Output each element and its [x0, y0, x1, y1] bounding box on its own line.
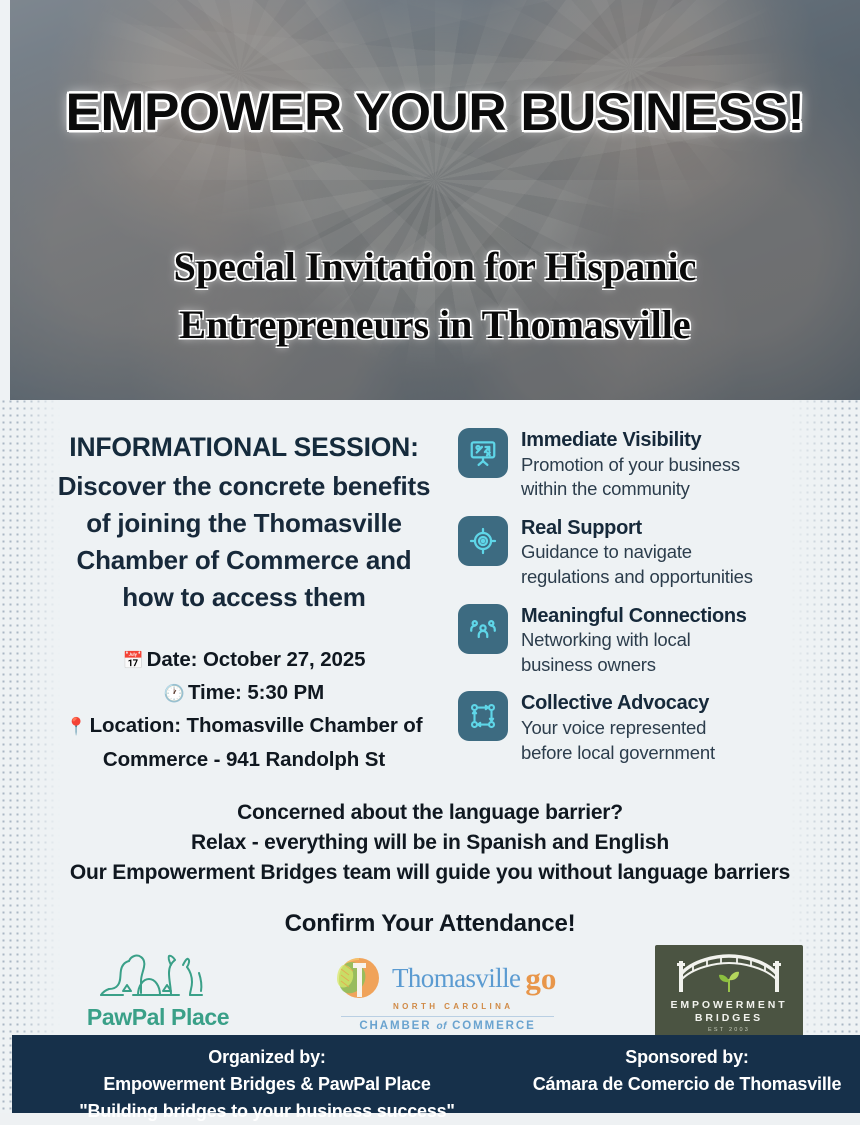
event-address-row: Commerce - 941 Randolph St: [34, 743, 454, 776]
benefit-text: Immediate Visibility Promotion of your b…: [521, 428, 740, 502]
footer-sponsored-line-1: Cámara de Comercio de Thomasville: [512, 1071, 860, 1098]
footer-bar: Organized by: Empowerment Bridges & PawP…: [12, 1035, 860, 1113]
benefit-desc-line-1: Guidance to navigate: [521, 540, 753, 565]
benefit-icon-tile: [458, 691, 508, 741]
thomasville-state: NORTH CAROLINA: [393, 1002, 560, 1011]
session-description-line-4: how to access them: [34, 579, 454, 616]
benefit-desc-line-1: Networking with local: [521, 628, 747, 653]
calendar-icon: 📅: [123, 651, 144, 670]
session-description-line-3: Chamber of Commerce and: [34, 542, 454, 579]
footer-organized-line-1: Empowerment Bridges & PawPal Place: [32, 1071, 502, 1098]
thomasville-divider: [341, 1016, 554, 1017]
language-callout: Concerned about the language barrier? Re…: [0, 798, 860, 889]
benefit-item: Immediate Visibility Promotion of your b…: [458, 428, 828, 502]
hero-subtitle-line-2: Entrepreneurs in Thomasville: [70, 296, 800, 354]
target-icon: [468, 526, 498, 556]
session-description-line-2: of joining the Thomasville: [34, 505, 454, 542]
thomasville-main-row: Thomasville go: [335, 955, 560, 1001]
event-time-row: 🕐Time: 5:30 PM: [34, 676, 454, 709]
session-heading: INFORMATIONAL SESSION:: [34, 430, 454, 464]
benefit-icon-tile: [458, 604, 508, 654]
benefit-item: Meaningful Connections Networking with l…: [458, 604, 828, 678]
event-date-text: Date: October 27, 2025: [147, 648, 366, 671]
benefit-title: Meaningful Connections: [521, 605, 747, 629]
session-description: Discover the concrete benefits of joinin…: [34, 468, 454, 616]
empowerment-bridges-est: EST 2003: [708, 1027, 750, 1033]
callout-line-2: Relax - everything will be in Spanish an…: [0, 828, 860, 858]
benefits-column: Immediate Visibility Promotion of your b…: [458, 428, 828, 779]
bridge-leaf-icon: [669, 952, 789, 998]
thomasville-chamber-logo: Thomasville go NORTH CAROLINA CHAMBER of…: [335, 955, 560, 1032]
benefit-text: Meaningful Connections Networking with l…: [521, 604, 747, 678]
callout-line-1: Concerned about the language barrier?: [0, 798, 860, 828]
benefit-item: Collective Advocacy Your voice represent…: [458, 691, 828, 765]
thomasville-wordmark: Thomasville: [392, 965, 520, 992]
event-location-text: Location: Thomasville Chamber of: [90, 714, 423, 737]
hero-subtitle-line-1: Special Invitation for Hispanic: [70, 238, 800, 296]
empowerment-bridges-logo: EMPOWERMENT BRIDGES EST 2003: [655, 945, 803, 1038]
benefit-icon-tile: [458, 516, 508, 566]
benefit-desc-line-2: within the community: [521, 477, 740, 502]
benefit-desc-line-2: before local government: [521, 741, 715, 766]
hero-banner: EMPOWER YOUR BUSINESS! Special Invitatio…: [10, 0, 860, 400]
map-pin-icon: 📍: [66, 717, 87, 736]
benefit-desc-line-2: regulations and opportunities: [521, 565, 753, 590]
logo-row: PawPal Place Thomasville: [0, 945, 860, 1037]
hero-subtitle: Special Invitation for Hispanic Entrepre…: [70, 238, 800, 354]
thomasville-go-word: go: [525, 963, 556, 994]
pawpal-place-name: PawPal Place: [58, 1004, 258, 1031]
benefit-desc-line-1: Promotion of your business: [521, 453, 740, 478]
benefit-title: Real Support: [521, 517, 753, 541]
empowerment-bridges-name-2: BRIDGES: [695, 1012, 763, 1024]
benefit-text: Collective Advocacy Your voice represent…: [521, 691, 715, 765]
benefit-desc-line-2: business owners: [521, 653, 747, 678]
session-description-line-1: Discover the concrete benefits: [34, 468, 454, 505]
callout-line-3: Our Empowerment Bridges team will guide …: [0, 858, 860, 888]
body-section: INFORMATIONAL SESSION: Discover the conc…: [0, 400, 860, 1035]
pawpal-place-logo: PawPal Place: [58, 947, 258, 1031]
event-details: 📅Date: October 27, 2025 🕐Time: 5:30 PM 📍…: [34, 643, 454, 776]
commerce-word: COMMERCE: [452, 1020, 536, 1032]
thomasville-globe-icon: [335, 955, 387, 1001]
empowerment-bridges-name-1: EMPOWERMENT: [670, 998, 787, 1012]
benefit-icon-tile: [458, 428, 508, 478]
benefit-text: Real Support Guidance to navigate regula…: [521, 516, 753, 590]
benefit-title: Immediate Visibility: [521, 429, 740, 453]
strategy-board-icon: [468, 438, 498, 468]
benefit-title: Collective Advocacy: [521, 692, 715, 716]
footer-organized-line-2: "Building bridges to your business succe…: [32, 1098, 502, 1125]
event-date-row: 📅Date: October 27, 2025: [34, 643, 454, 676]
footer-organized-heading: Organized by:: [32, 1044, 502, 1071]
chamber-word: CHAMBER: [359, 1020, 431, 1032]
confirm-attendance-text: Confirm Your Attendance!: [0, 910, 860, 938]
thomasville-word: Thomasville: [392, 963, 520, 993]
clock-icon: 🕐: [164, 684, 185, 703]
flyer-page: EMPOWER YOUR BUSINESS! Special Invitatio…: [0, 0, 860, 1113]
info-column: INFORMATIONAL SESSION: Discover the conc…: [34, 430, 454, 776]
hero-title: EMPOWER YOUR BUSINESS!: [10, 82, 860, 143]
event-time-text: Time: 5:30 PM: [188, 681, 324, 704]
event-location-row: 📍Location: Thomasville Chamber of: [34, 709, 454, 742]
footer-sponsored-block: Sponsored by: Cámara de Comercio de Thom…: [512, 1044, 860, 1098]
benefit-item: Real Support Guidance to navigate regula…: [458, 516, 828, 590]
thomasville-chamber-line: CHAMBER of COMMERCE: [335, 1020, 560, 1032]
dog-and-cat-icon: [83, 947, 233, 1007]
network-flow-icon: [468, 701, 498, 731]
footer-sponsored-heading: Sponsored by:: [512, 1044, 860, 1071]
benefit-desc-line-1: Your voice represented: [521, 716, 715, 741]
people-group-icon: [468, 614, 498, 644]
chamber-of-word: of: [437, 1021, 447, 1032]
